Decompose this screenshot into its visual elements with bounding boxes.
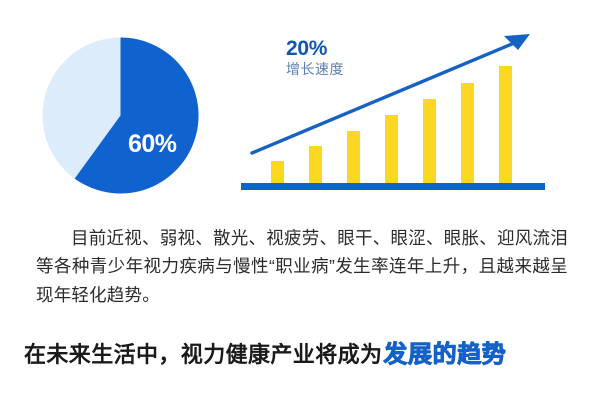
pie-slice-value-label: 60% [128, 132, 177, 157]
bar-1 [271, 161, 284, 183]
bar-chart-svg [230, 20, 560, 200]
pie-chart-svg [42, 37, 199, 194]
bar-series [271, 66, 512, 183]
growth-rate-caption: 增长速度 [286, 62, 344, 77]
pie-chart: 60% [42, 37, 199, 194]
headline-accent-text: 发展的趋势 [383, 341, 506, 368]
headline-main-text: 在未来生活中，视力健康产业将成为 [24, 342, 382, 367]
body-paragraph: 目前近视、弱视、散光、视疲劳、眼干、眼涩、眼胀、迎风流泪等各种青少年视力疾病与慢… [36, 224, 568, 309]
bar-4 [385, 115, 398, 183]
bar-chart [230, 20, 560, 200]
bar-6 [461, 83, 474, 183]
bar-7 [499, 66, 512, 183]
bar-5 [423, 99, 436, 183]
chart-baseline [241, 183, 545, 190]
growth-rate-percent: 20% [286, 38, 344, 61]
infographic-band: 60% [0, 0, 600, 215]
body-paragraph-text: 目前近视、弱视、散光、视疲劳、眼干、眼涩、眼胀、迎风流泪等各种青少年视力疾病与慢… [36, 224, 568, 309]
growth-rate-annotation: 20% 增长速度 [286, 38, 344, 77]
poster-canvas: 60% [0, 0, 600, 400]
headline: 在未来生活中，视力健康产业将成为发展的趋势 [24, 342, 584, 368]
bar-3 [347, 131, 360, 183]
bar-2 [309, 146, 322, 183]
